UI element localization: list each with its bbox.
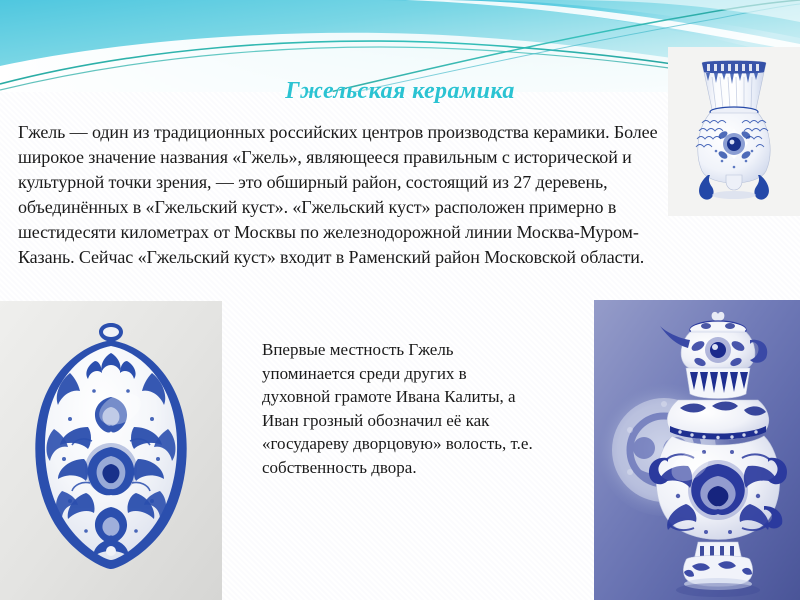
- slide-canvas: Гжельская керамика Гжель — один из тради…: [0, 0, 800, 600]
- gzhel-cutting-board-photo: [0, 301, 222, 600]
- main-paragraph: Гжель — один из традиционных российских …: [18, 120, 670, 270]
- gzhel-vase-photo: [668, 47, 800, 216]
- gzhel-samovar-photo: [594, 300, 800, 600]
- secondary-paragraph: Впервые местность Гжель упоминается сред…: [262, 338, 538, 479]
